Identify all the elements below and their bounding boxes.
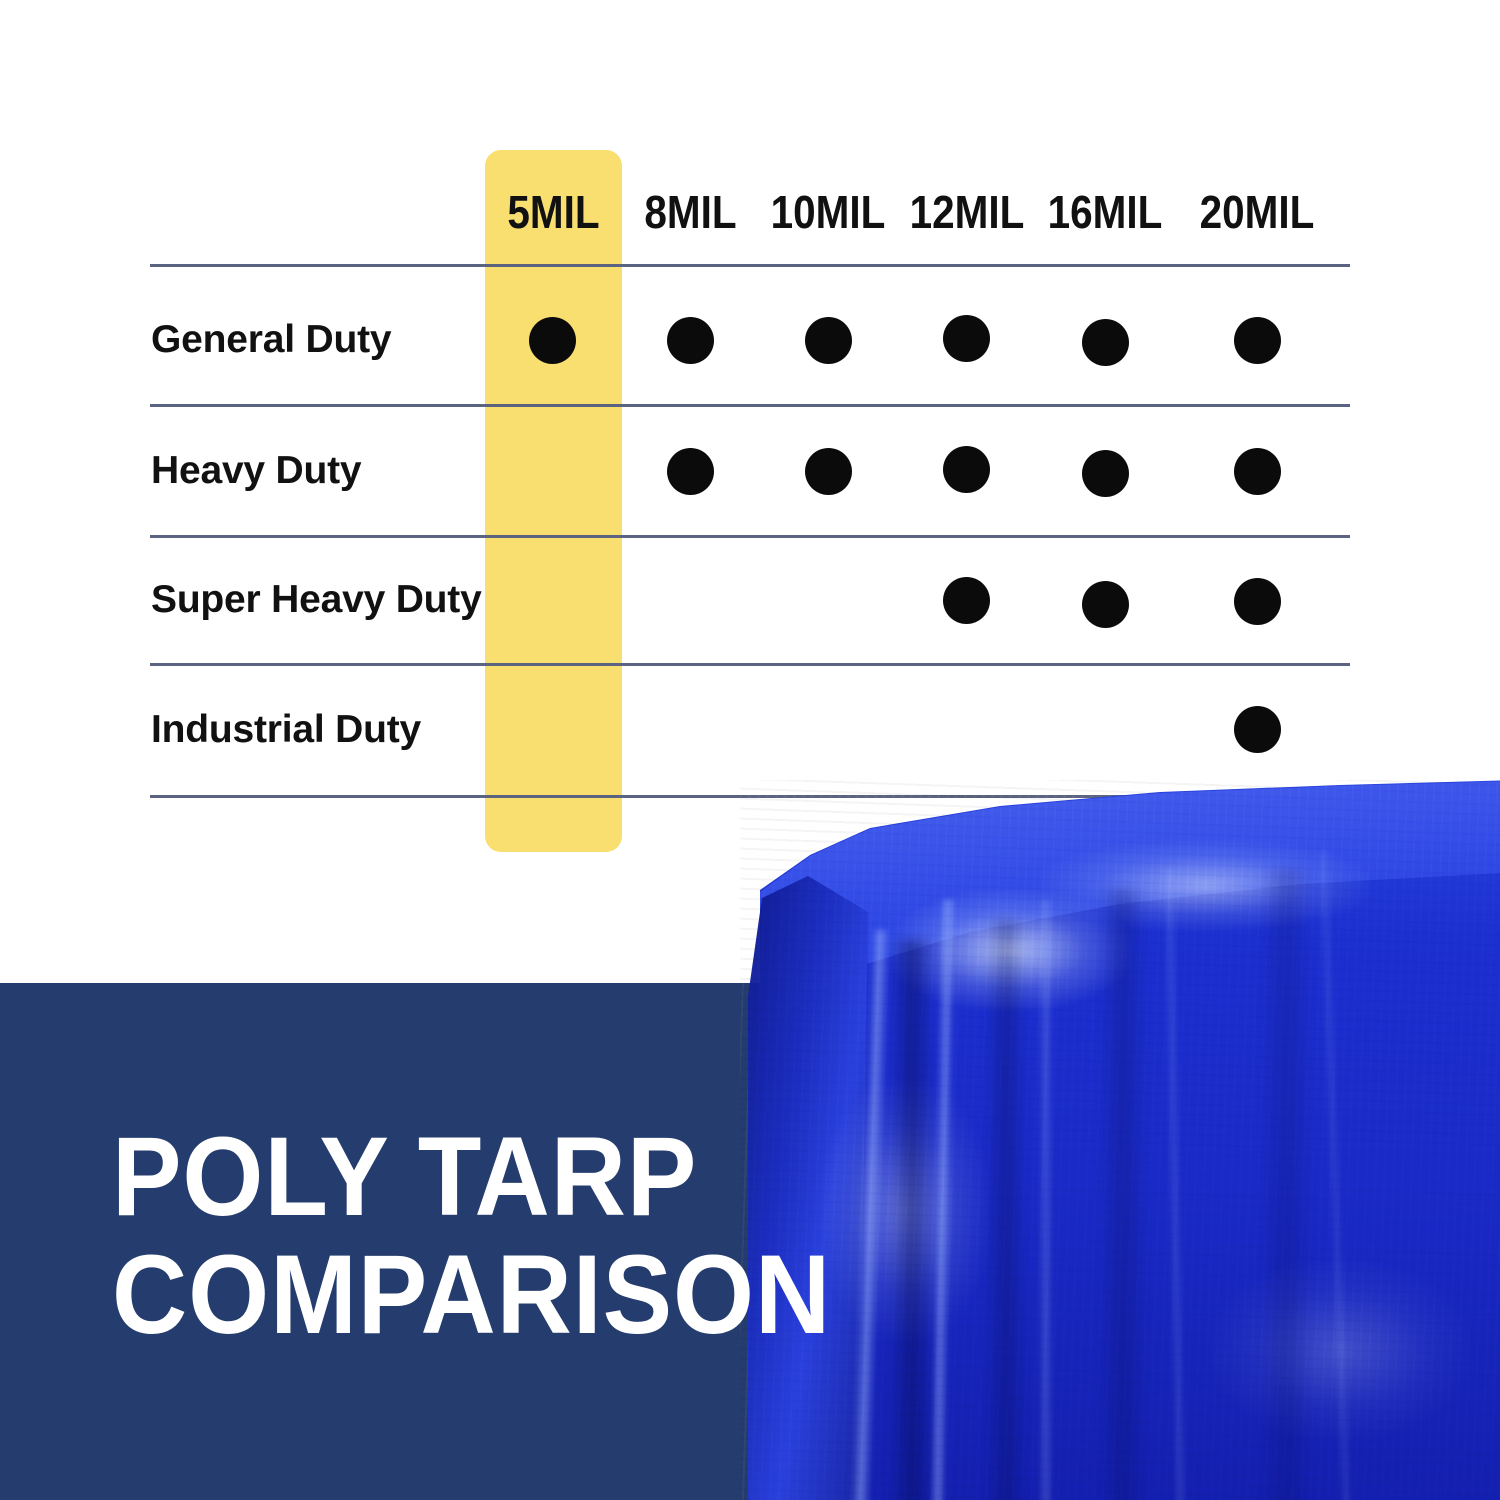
dot-general-duty-12mil — [943, 315, 990, 362]
column-header-16mil: 16MIL — [1043, 182, 1168, 242]
page-title: POLY TARP COMPARISON — [112, 1118, 875, 1354]
row-label-industrial-duty: Industrial Duty — [151, 708, 421, 752]
row-label-general-duty: General Duty — [151, 318, 391, 362]
dot-general-duty-16mil — [1082, 319, 1129, 366]
table-rule-2 — [150, 535, 1350, 538]
dot-heavy-duty-16mil — [1082, 450, 1129, 497]
dot-super-heavy-duty-16mil — [1082, 581, 1129, 628]
column-header-20mil: 20MIL — [1195, 182, 1320, 242]
dot-super-heavy-duty-12mil — [943, 577, 990, 624]
dot-heavy-duty-10mil — [805, 448, 852, 495]
column-header-5mil: 5MIL — [493, 182, 614, 242]
table-rule-1 — [150, 404, 1350, 407]
dot-heavy-duty-12mil — [943, 446, 990, 493]
column-header-12mil: 12MIL — [905, 182, 1030, 242]
dot-general-duty-8mil — [667, 317, 714, 364]
dot-general-duty-10mil — [805, 317, 852, 364]
poster-canvas: 5MIL 8MIL 10MIL 12MIL 16MIL 20MIL Genera… — [0, 0, 1500, 1500]
column-header-8mil: 8MIL — [630, 182, 751, 242]
dot-general-duty-5mil — [529, 317, 576, 364]
highlight-column-5mil — [485, 150, 622, 852]
table-rule-3 — [150, 663, 1350, 666]
dot-heavy-duty-8mil — [667, 448, 714, 495]
dot-general-duty-20mil — [1234, 317, 1281, 364]
dot-super-heavy-duty-20mil — [1234, 578, 1281, 625]
table-rule-top — [150, 264, 1350, 267]
row-label-heavy-duty: Heavy Duty — [151, 449, 361, 493]
dot-industrial-duty-20mil — [1234, 706, 1281, 753]
column-header-10mil: 10MIL — [766, 182, 891, 242]
row-label-super-heavy-duty: Super Heavy Duty — [151, 578, 482, 622]
dot-heavy-duty-20mil — [1234, 448, 1281, 495]
